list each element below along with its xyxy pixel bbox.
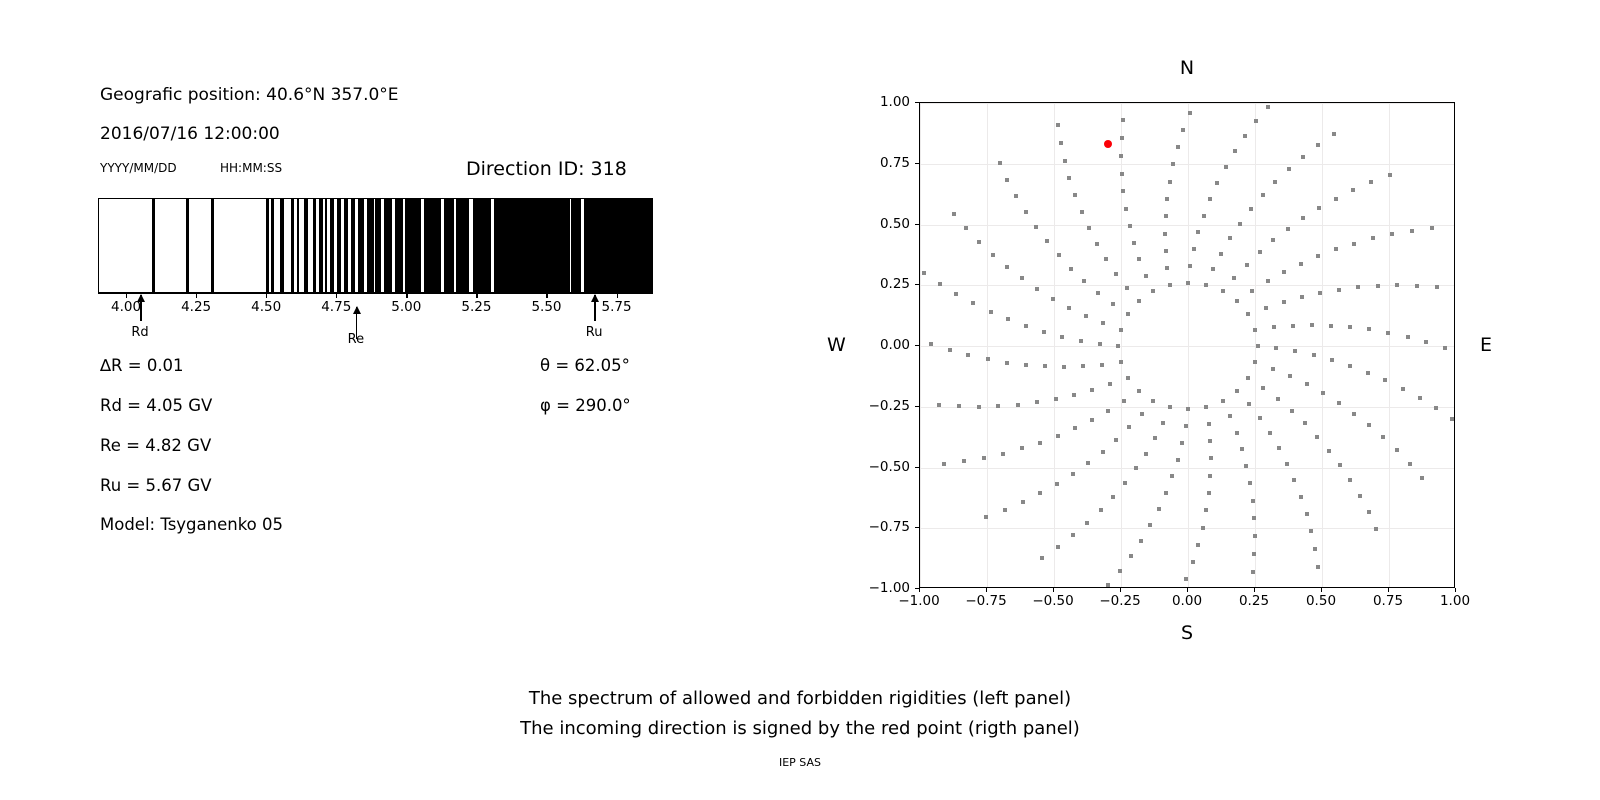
direction-dot (1317, 206, 1321, 210)
spectrum-bar (297, 199, 300, 292)
direction-dot (1063, 159, 1067, 163)
direction-dot (1118, 569, 1122, 573)
direction-dot (1073, 193, 1077, 197)
direction-dot (1316, 254, 1320, 258)
map-y-tick-label: 0.50 (840, 216, 910, 232)
spectrum-bar (494, 199, 570, 292)
direction-dot (1060, 335, 1064, 339)
direction-dot (1122, 399, 1126, 403)
caption-line-1: The spectrum of allowed and forbidden ri… (0, 688, 1600, 709)
direction-dot (1276, 397, 1280, 401)
direction-dot (1137, 389, 1141, 393)
direction-dot (1282, 270, 1286, 274)
direction-dot (1371, 236, 1375, 240)
direction-dot (1121, 189, 1125, 193)
direction-dot (1271, 238, 1275, 242)
direction-dot (1316, 565, 1320, 569)
direction-dot (1170, 474, 1174, 478)
direction-dot (1059, 141, 1063, 145)
direction-dot (1098, 342, 1102, 346)
spectrum-bar (405, 199, 422, 292)
spectrum-bar (344, 199, 348, 292)
direction-dot (1139, 539, 1143, 543)
spectrum-x-tick-label: 5.00 (391, 299, 421, 315)
direction-dot (998, 161, 1002, 165)
spectrum-x-tick (126, 293, 127, 298)
direction-dot (1123, 481, 1127, 485)
direction-dot (1111, 302, 1115, 306)
spectrum-bar (375, 199, 381, 292)
direction-dot (1247, 402, 1251, 406)
spectrum-bar (152, 199, 155, 292)
direction-dot (1252, 516, 1256, 520)
direction-dot (1021, 500, 1025, 504)
direction-dot (1086, 461, 1090, 465)
rigidity-marker-label-ru: Ru (586, 325, 603, 340)
spectrum-bar (330, 199, 334, 292)
parameter-line: Re = 4.82 GV (100, 436, 211, 455)
direction-dot (1208, 474, 1212, 478)
direction-dot (1356, 285, 1360, 289)
spectrum-x-tick (406, 293, 407, 298)
direction-dot (1332, 132, 1336, 136)
direction-dot (1134, 466, 1138, 470)
direction-dot (1395, 283, 1399, 287)
direction-dot (989, 310, 993, 314)
direction-dot (1329, 324, 1333, 328)
direction-dot (1374, 527, 1378, 531)
direction-dot (922, 271, 926, 275)
direction-dot (1348, 325, 1352, 329)
direction-dot (1290, 409, 1294, 413)
date-format-hint: YYYY/MM/DD (100, 161, 177, 175)
direction-dot (1348, 478, 1352, 482)
direction-dot (1081, 364, 1085, 368)
direction-dot (1235, 299, 1239, 303)
direction-dot (1395, 448, 1399, 452)
footer-credit: IEP SAS (0, 756, 1600, 769)
spectrum-x-axis (98, 293, 653, 294)
direction-dot (962, 459, 966, 463)
direction-dot (1188, 111, 1192, 115)
spectrum-x-tick-label: 4.75 (321, 299, 351, 315)
direction-dot (1161, 421, 1165, 425)
direction-dot (948, 348, 952, 352)
map-x-tick-label: 0.75 (1373, 593, 1403, 609)
compass-south-label: S (1181, 622, 1193, 644)
direction-dot (1266, 105, 1270, 109)
direction-dot (1056, 123, 1060, 127)
spectrum-bar (304, 199, 308, 292)
map-x-tick (1254, 588, 1255, 592)
direction-dot (1096, 291, 1100, 295)
direction-dot (1186, 281, 1190, 285)
direction-dot (1124, 207, 1128, 211)
direction-dot (1006, 317, 1010, 321)
direction-dot (966, 353, 970, 357)
direction-dot (964, 226, 968, 230)
direction-dot (1250, 289, 1254, 293)
direction-dot (1204, 405, 1208, 409)
direction-dot (952, 212, 956, 216)
direction-dot (1249, 207, 1253, 211)
direction-dot (1176, 458, 1180, 462)
direction-dot (1430, 226, 1434, 230)
spectrum-x-tick-label: 5.25 (461, 299, 491, 315)
map-x-tick (986, 588, 987, 592)
direction-dot (957, 404, 961, 408)
gridline-horizontal (920, 225, 1454, 226)
direction-dot (1140, 412, 1144, 416)
direction-dot (1434, 406, 1438, 410)
direction-dot (1215, 181, 1219, 185)
map-x-tick (919, 588, 920, 592)
direction-dot (1132, 241, 1136, 245)
direction-dot (1128, 224, 1132, 228)
parameter-line: Ru = 5.67 GV (100, 476, 212, 495)
direction-dot (1321, 391, 1325, 395)
direction-dot (1209, 456, 1213, 460)
direction-dot (984, 515, 988, 519)
parameter-line: Rd = 4.05 GV (100, 396, 212, 415)
spectrum-bar (395, 199, 403, 292)
direction-dot (1254, 119, 1258, 123)
direction-dot (1424, 340, 1428, 344)
direction-dot (1040, 556, 1044, 560)
direction-dot (1168, 180, 1172, 184)
direction-dot (1126, 312, 1130, 316)
direction-dot (1127, 425, 1131, 429)
direction-dot (1171, 162, 1175, 166)
direction-dot (1443, 346, 1447, 350)
direction-dot (977, 240, 981, 244)
direction-dot (1291, 324, 1295, 328)
parameter-line: Model: Tsyganenko 05 (100, 515, 283, 534)
direction-dot (1054, 397, 1058, 401)
direction-dot (1038, 491, 1042, 495)
map-y-tick (915, 527, 919, 528)
gridline-vertical (1188, 103, 1189, 587)
rigidity-spectrum-plot (98, 198, 653, 293)
direction-dot (1303, 421, 1307, 425)
direction-dot (1221, 399, 1225, 403)
direction-dot (1228, 414, 1232, 418)
direction-dot (1108, 382, 1112, 386)
direction-dot (1243, 134, 1247, 138)
direction-dot (1299, 495, 1303, 499)
direction-dot (1056, 434, 1060, 438)
map-y-tick-label: 0.25 (840, 276, 910, 292)
direction-dot (1312, 353, 1316, 357)
direction-dot (1207, 491, 1211, 495)
direction-dot (1043, 364, 1047, 368)
direction-dot (1114, 272, 1118, 276)
direction-dot (1035, 400, 1039, 404)
gridline-horizontal (920, 468, 1454, 469)
direction-dot (1334, 197, 1338, 201)
rigidity-marker-arrow-rd (140, 295, 142, 321)
angle-parameter-line: θ = 62.05° (540, 356, 630, 375)
direction-dot (1119, 154, 1123, 158)
spectrum-x-tick (546, 293, 547, 298)
map-x-tick (1053, 588, 1054, 592)
direction-dot (1208, 439, 1212, 443)
direction-dot (1116, 344, 1120, 348)
map-y-tick (915, 467, 919, 468)
direction-dot (1071, 472, 1075, 476)
direction-dot (1067, 306, 1071, 310)
direction-dot (1271, 367, 1275, 371)
map-y-tick-label: −0.75 (840, 519, 910, 535)
direction-dot (1119, 328, 1123, 332)
map-y-tick-label: 1.00 (840, 94, 910, 110)
direction-dot (1035, 287, 1039, 291)
spectrum-bar (266, 199, 269, 292)
direction-dot (1164, 249, 1168, 253)
direction-dot (1069, 267, 1073, 271)
direction-dot (1253, 534, 1257, 538)
direction-dot (1301, 155, 1305, 159)
direction-dot (1051, 297, 1055, 301)
direction-dot (1401, 387, 1405, 391)
geographic-position-text: Geografic position: 40.6°N 357.0°E (100, 85, 399, 105)
direction-dot (1024, 210, 1028, 214)
direction-dot (1337, 401, 1341, 405)
direction-dot (1095, 242, 1099, 246)
map-x-tick (1455, 588, 1456, 592)
direction-dot (1165, 266, 1169, 270)
direction-dot (1337, 288, 1341, 292)
direction-dot (1301, 216, 1305, 220)
direction-dot (1313, 547, 1317, 551)
direction-dot (1408, 462, 1412, 466)
direction-dot (1305, 382, 1309, 386)
gridline-vertical (1054, 103, 1055, 587)
direction-dot (1300, 295, 1304, 299)
direction-dot (1106, 409, 1110, 413)
spectrum-bar (384, 199, 392, 292)
direction-dot (1196, 230, 1200, 234)
gridline-vertical (920, 103, 921, 587)
angle-parameter-line: φ = 290.0° (540, 396, 631, 415)
direction-dot (1101, 450, 1105, 454)
direction-dot (1137, 299, 1141, 303)
direction-dot (1293, 349, 1297, 353)
spectrum-bar (473, 199, 491, 292)
direction-dot (937, 403, 941, 407)
caption-line-2: The incoming direction is signed by the … (0, 718, 1600, 739)
direction-dot (1186, 407, 1190, 411)
direction-dot (1090, 418, 1094, 422)
map-x-tick (1388, 588, 1389, 592)
right-panel: N S W E −1.00−0.75−0.50−0.250.000.250.50… (800, 0, 1600, 800)
direction-dot (1202, 214, 1206, 218)
direction-dot (1100, 363, 1104, 367)
spectrum-x-tick (266, 293, 267, 298)
map-y-tick (915, 406, 919, 407)
map-x-tick-label: 0.50 (1306, 593, 1336, 609)
direction-dot (1114, 438, 1118, 442)
direction-dot (938, 282, 942, 286)
spectrum-x-tick (617, 293, 618, 298)
direction-dot (1079, 339, 1083, 343)
direction-dot (1244, 464, 1248, 468)
direction-dot (1299, 262, 1303, 266)
direction-dot (1062, 365, 1066, 369)
direction-dot (1125, 286, 1129, 290)
direction-dot (1016, 403, 1020, 407)
map-x-tick (1120, 588, 1121, 592)
direction-dot (1410, 229, 1414, 233)
direction-dot (1038, 441, 1042, 445)
direction-dot (1318, 291, 1322, 295)
direction-dot (1101, 321, 1105, 325)
direction-dot (1153, 436, 1157, 440)
direction-dot (1282, 300, 1286, 304)
direction-dot (1251, 570, 1255, 574)
direction-dot (1285, 462, 1289, 466)
compass-east-label: E (1480, 334, 1492, 356)
direction-dot (1334, 247, 1338, 251)
direction-dot (1388, 173, 1392, 177)
direction-dot (1228, 236, 1232, 240)
direction-dot (1144, 452, 1148, 456)
direction-dot (1315, 435, 1319, 439)
map-y-tick-label: 0.75 (840, 155, 910, 171)
direction-dot (1383, 378, 1387, 382)
gridline-vertical (1322, 103, 1323, 587)
direction-dot (1034, 225, 1038, 229)
direction-dot (1435, 285, 1439, 289)
direction-dot (1129, 554, 1133, 558)
direction-dot (1080, 210, 1084, 214)
direction-dot (1253, 328, 1257, 332)
spectrum-bar (211, 199, 214, 292)
direction-dot (1406, 335, 1410, 339)
direction-dot (1090, 388, 1094, 392)
gridline-horizontal (920, 346, 1454, 347)
direction-dot (1288, 374, 1292, 378)
spectrum-x-tick-label: 5.75 (602, 299, 632, 315)
spectrum-bar (456, 199, 469, 292)
direction-dot (1042, 330, 1046, 334)
direction-dot (1148, 523, 1152, 527)
direction-dot (1201, 526, 1205, 530)
direction-dot (1245, 263, 1249, 267)
map-y-tick-label: 0.00 (840, 337, 910, 353)
direction-dot (1176, 145, 1180, 149)
direction-dot (1316, 143, 1320, 147)
direction-dot (1165, 197, 1169, 201)
direction-dot (1191, 560, 1195, 564)
direction-dot (1264, 306, 1268, 310)
direction-dot (1327, 449, 1331, 453)
map-x-tick-label: −0.25 (1099, 593, 1140, 609)
spectrum-bar (351, 199, 355, 292)
direction-dot (1208, 197, 1212, 201)
spectrum-bar (444, 199, 454, 292)
direction-dot (1221, 289, 1225, 293)
spectrum-bar (280, 199, 284, 292)
direction-dot (1348, 364, 1352, 368)
spectrum-bars (99, 199, 652, 292)
parameter-line: ∆R = 0.01 (100, 356, 184, 375)
direction-dot (1248, 481, 1252, 485)
direction-dot (1286, 227, 1290, 231)
direction-dot (1207, 422, 1211, 426)
map-x-tick-label: −0.50 (1032, 593, 1073, 609)
direction-dot (1168, 405, 1172, 409)
direction-dot (1120, 136, 1124, 140)
direction-dot (971, 301, 975, 305)
direction-dot (1084, 314, 1088, 318)
direction-dot (1367, 327, 1371, 331)
direction-dot (1450, 417, 1454, 421)
direction-dot (1366, 371, 1370, 375)
direction-dot (982, 456, 986, 460)
direction-dot (991, 253, 995, 257)
direction-dot (1369, 180, 1373, 184)
map-y-tick (915, 284, 919, 285)
direction-dot (1266, 279, 1270, 283)
direction-dot (1418, 396, 1422, 400)
direction-dot (1111, 495, 1115, 499)
direction-dot (929, 342, 933, 346)
direction-dot (1005, 361, 1009, 365)
direction-dot (1274, 346, 1278, 350)
map-y-tick-label: −0.25 (840, 398, 910, 414)
direction-dot (996, 404, 1000, 408)
spectrum-x-tick-label: 5.50 (531, 299, 561, 315)
direction-dot (1232, 276, 1236, 280)
direction-dot (1367, 423, 1371, 427)
direction-dot (1005, 178, 1009, 182)
map-x-tick-label: 0.25 (1239, 593, 1269, 609)
direction-dot (1180, 441, 1184, 445)
direction-dot (1151, 399, 1155, 403)
direction-dot (1163, 232, 1167, 236)
direction-dot (1085, 521, 1089, 525)
direction-dot (986, 357, 990, 361)
map-x-tick (1187, 588, 1188, 592)
direction-dot (1120, 172, 1124, 176)
direction-dot (954, 292, 958, 296)
spectrum-x-tick (196, 293, 197, 298)
map-x-tick-label: −0.75 (965, 593, 1006, 609)
map-y-tick-label: −0.50 (840, 459, 910, 475)
map-y-tick (915, 102, 919, 103)
direction-dot (1415, 284, 1419, 288)
direction-dot (1330, 358, 1334, 362)
direction-dot (1164, 214, 1168, 218)
direction-dot (1238, 222, 1242, 226)
direction-dot (1252, 552, 1256, 556)
direction-dot (1014, 194, 1018, 198)
map-y-tick (915, 224, 919, 225)
direction-dot (1071, 533, 1075, 537)
direction-dot (1246, 312, 1250, 316)
direction-dot (1003, 508, 1007, 512)
gridline-horizontal (920, 103, 1454, 104)
direction-dot (1251, 499, 1255, 503)
direction-dot (1352, 412, 1356, 416)
direction-dot (1151, 289, 1155, 293)
direction-dot (1268, 431, 1272, 435)
direction-dot (1184, 424, 1188, 428)
direction-dot (1390, 232, 1394, 236)
direction-dot (1168, 283, 1172, 287)
direction-dot (1196, 543, 1200, 547)
